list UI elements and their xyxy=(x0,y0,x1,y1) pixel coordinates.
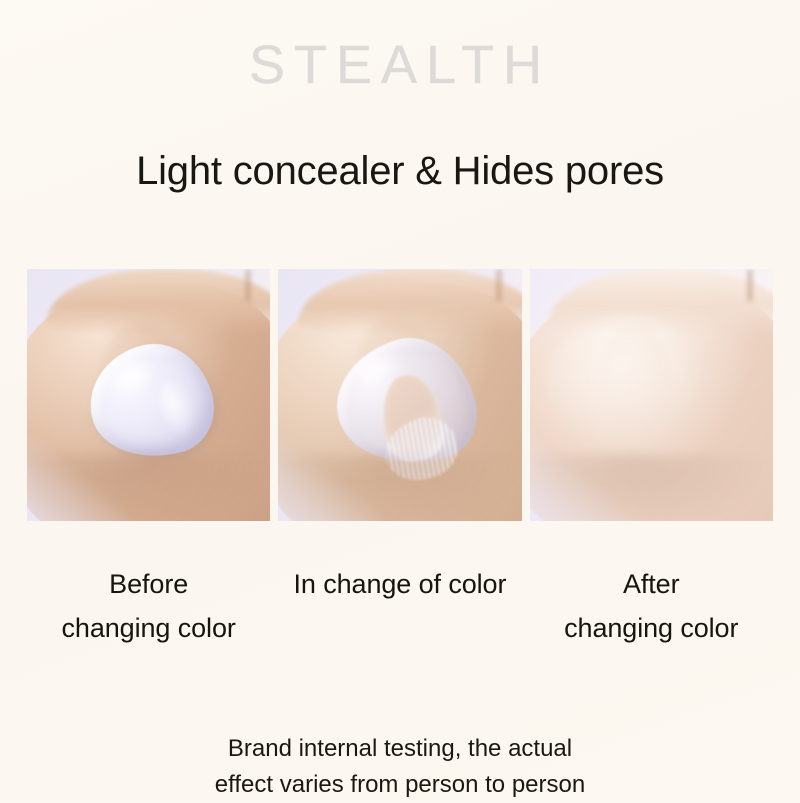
comparison-image-in-change xyxy=(278,269,521,521)
brand-watermark: STEALTH xyxy=(0,38,800,92)
finger-gap-shadow xyxy=(747,269,753,302)
caption-in-change: In change of color xyxy=(278,562,521,658)
product-infographic-page: STEALTH Light concealer & Hides pores xyxy=(0,0,800,800)
comparison-image-before xyxy=(27,269,270,521)
caption-after-line1: After xyxy=(530,562,773,606)
comparison-captions: Before changing color In change of color… xyxy=(27,562,773,658)
caption-in-change-line1: In change of color xyxy=(278,562,521,606)
finger-gap-shadow xyxy=(245,269,251,302)
backdrop-corner-light xyxy=(278,435,380,521)
page-title: Light concealer & Hides pores xyxy=(0,148,800,195)
finger-gap-shadow xyxy=(496,269,502,302)
disclaimer-line1: Brand internal testing, the actual xyxy=(0,731,800,767)
disclaimer-text: Brand internal testing, the actual effec… xyxy=(0,731,800,803)
caption-before: Before changing color xyxy=(27,562,270,658)
caption-before-line1: Before xyxy=(27,562,270,606)
caption-before-line2: changing color xyxy=(27,606,270,650)
comparison-image-after xyxy=(530,269,773,521)
backdrop-corner-light xyxy=(27,435,129,521)
comparison-image-strip xyxy=(27,269,773,521)
disclaimer-line2: effect varies from person to person xyxy=(0,767,800,803)
backdrop-corner-light xyxy=(530,435,632,521)
caption-after-line2: changing color xyxy=(530,606,773,650)
caption-after: After changing color xyxy=(530,562,773,658)
blended-skin-sheen xyxy=(544,314,714,455)
